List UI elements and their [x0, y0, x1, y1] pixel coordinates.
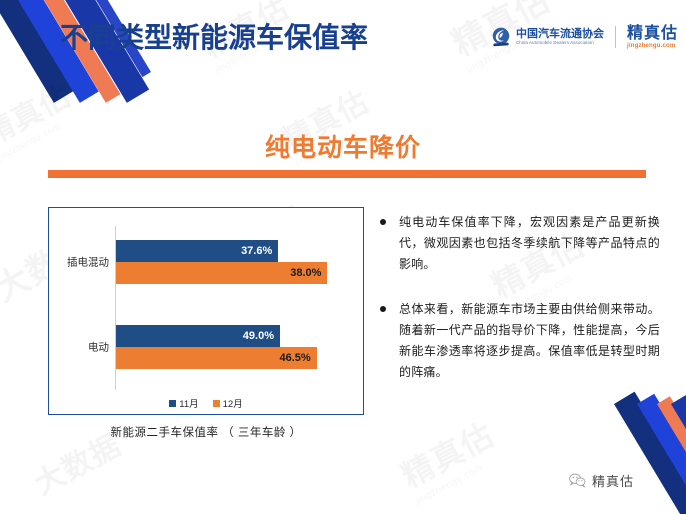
chart-bar-value: 37.6%	[241, 245, 278, 257]
bullet-dot-icon	[380, 219, 386, 225]
chart-category-group: 插电混动 37.6% 38.0%	[49, 240, 363, 284]
logo-bar: 中国汽车流通协会 China Automobile Dealers Associ…	[490, 22, 678, 52]
association-name-cn: 中国汽车流通协会	[516, 28, 604, 40]
corner-stripe-indigo-right	[671, 391, 686, 514]
bullet-text: 总体来看，新能源车市场主要由供给侧来带动。随着新一代产品的指导价下降，性能提高，…	[399, 299, 660, 383]
chart-bar: 46.5%	[116, 347, 317, 369]
chart-category-label: 电动	[49, 340, 109, 355]
page-title: 不同类型新能源车保值率	[60, 16, 368, 56]
corner-stripe-blue-right	[637, 394, 686, 514]
chart-bar-value: 38.0%	[290, 267, 327, 279]
footer-brand: 精真估	[569, 471, 634, 490]
legend-label: 11月	[179, 396, 198, 410]
chart-category-label: 插电混动	[49, 255, 109, 270]
chart-bar: 38.0%	[116, 262, 327, 284]
section-subtitle: 纯电动车降价	[0, 128, 686, 164]
chart-caption: 新能源二手车保值率 （ 三年车龄 ）	[48, 424, 364, 440]
wechat-icon	[569, 473, 586, 488]
chart-bar: 37.6%	[116, 240, 278, 262]
chart-bar-value: 46.5%	[279, 352, 316, 364]
bullet-list: 纯电动车保值率下降，宏观因素是产品更新换代，微观因素也包括冬季续航下降等产品特点…	[380, 212, 660, 407]
watermark-brand: 精真估jingzhengu.com	[392, 410, 506, 507]
chart-bar-value: 49.0%	[243, 330, 280, 342]
legend-swatch	[169, 400, 176, 407]
list-item: 纯电动车保值率下降，宏观因素是产品更新换代，微观因素也包括冬季续航下降等产品特点…	[380, 212, 660, 275]
legend-label: 12月	[223, 396, 243, 410]
corner-stripe-navy-right	[614, 392, 686, 514]
logo-divider	[615, 26, 616, 48]
chart-category-group: 电动 49.0% 46.5%	[49, 325, 363, 369]
brand-name-cn: 精真估	[627, 25, 678, 42]
footer-brand-label: 精真估	[592, 471, 634, 490]
chart-legend: 11月 12月	[49, 396, 363, 410]
bullet-dot-icon	[380, 306, 386, 312]
association-name-en: China Automobile Dealers Association	[516, 40, 604, 46]
legend-item: 12月	[213, 396, 243, 410]
bar-chart-panel: 插电混动 37.6% 38.0% 电动 49.0% 46.5%	[48, 207, 364, 415]
list-item: 总体来看，新能源车市场主要由供给侧来带动。随着新一代产品的指导价下降，性能提高，…	[380, 299, 660, 383]
cada-swirl-icon	[490, 26, 512, 48]
chart-plot-area: 插电混动 37.6% 38.0% 电动 49.0% 46.5%	[49, 208, 363, 414]
chart-bar: 49.0%	[116, 325, 280, 347]
legend-item: 11月	[169, 396, 198, 410]
brand-domain: jingzhengu.com	[627, 42, 678, 50]
brand-logo: 精真估 jingzhengu.com	[627, 25, 678, 50]
section-divider-rule	[48, 170, 646, 178]
bullet-text: 纯电动车保值率下降，宏观因素是产品更新换代，微观因素也包括冬季续航下降等产品特点…	[399, 212, 660, 275]
slide-canvas: 精真估jingzhengu.com 精真估jingzhengu.com 精真估j…	[0, 0, 686, 514]
legend-swatch	[213, 400, 220, 407]
corner-stripe-orange-right	[657, 396, 686, 514]
association-logo: 中国汽车流通协会 China Automobile Dealers Associ…	[490, 26, 604, 48]
